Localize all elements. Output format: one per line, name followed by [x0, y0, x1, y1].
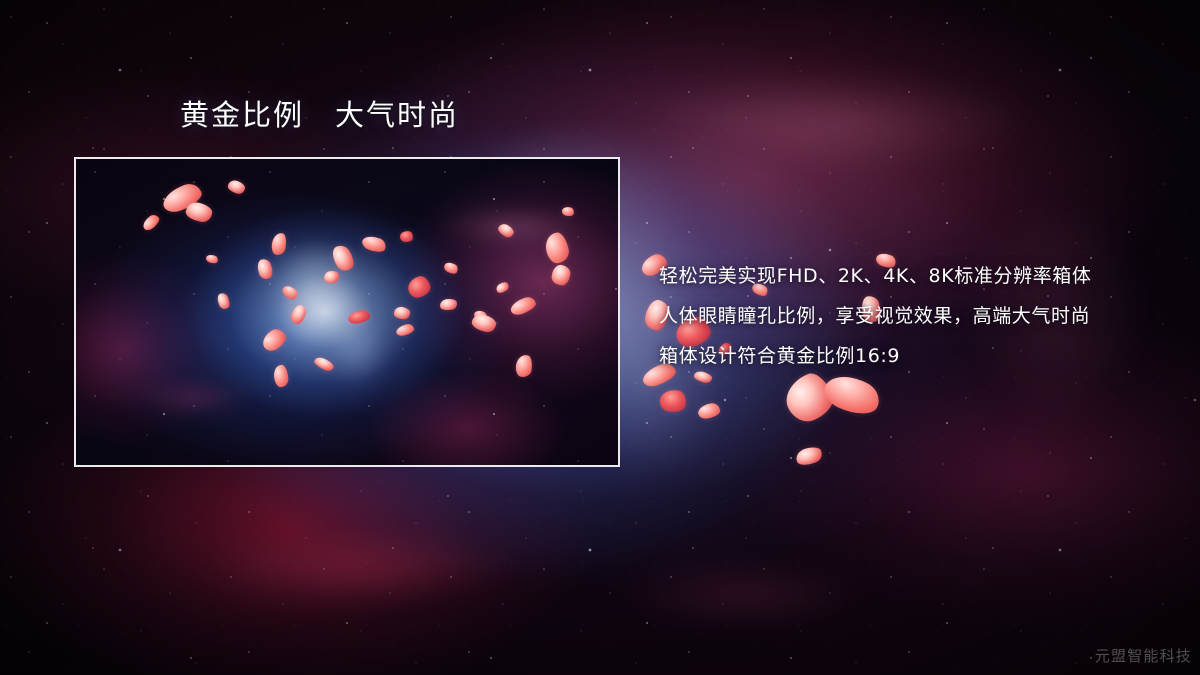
petal [659, 388, 688, 413]
body-line-2: 人体眼睛瞳孔比例，享受视觉效果，高端大气时尚 [659, 296, 1179, 336]
picture-inner [76, 159, 618, 465]
petal [779, 368, 840, 428]
watermark: 元盟智能科技 [1095, 645, 1192, 666]
page-title: 黄金比例 大气时尚 [180, 101, 459, 130]
body-line-3: 箱体设计符合黄金比例16:9 [659, 336, 1179, 376]
petal [794, 445, 823, 468]
picture-stars-bright [76, 159, 618, 465]
petal [697, 402, 721, 420]
body-copy: 轻松完美实现FHD、2K、4K、8K标准分辨率箱体 人体眼睛瞳孔比例，享受视觉效… [659, 256, 1179, 376]
slide-canvas: 黄金比例 大气时尚 [0, 0, 1200, 675]
body-line-1: 轻松完美实现FHD、2K、4K、8K标准分辨率箱体 [659, 256, 1179, 296]
petal [820, 368, 885, 422]
framed-picture [74, 157, 620, 467]
